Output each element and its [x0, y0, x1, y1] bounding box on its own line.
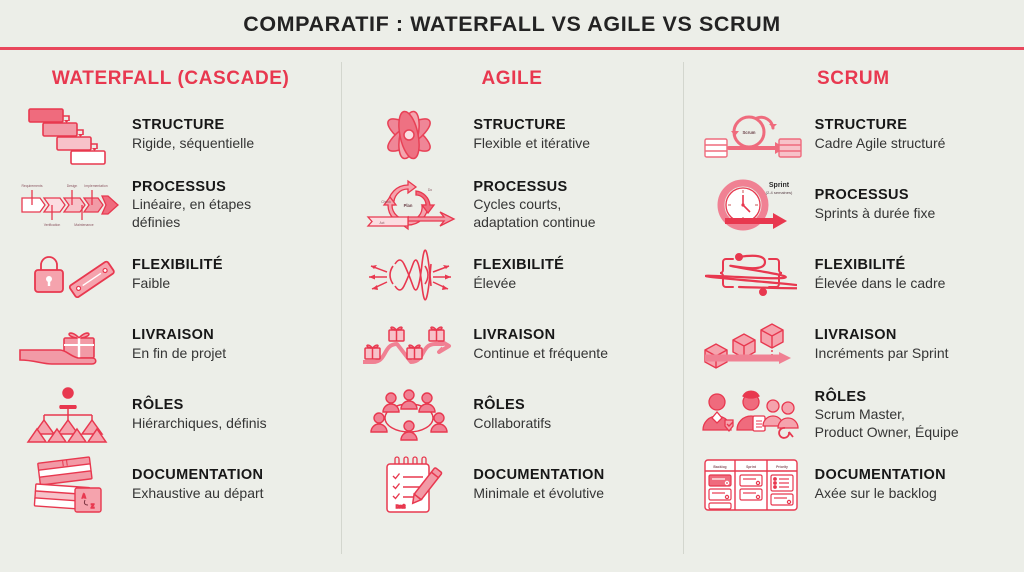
cascade-steps-icon — [14, 103, 122, 167]
comparison-columns: WATERFALL (CASCADE) — [0, 48, 1024, 572]
row-roles: RÔLES Collaboratifs — [355, 380, 668, 450]
icon-label-scrum: Scrum — [742, 130, 755, 135]
column-waterfall: WATERFALL (CASCADE) — [0, 56, 341, 572]
text-flexibilite: FLEXIBILITÉ Élevée — [473, 257, 668, 292]
text-documentation: DOCUMENTATION Axée sur le backlog — [815, 467, 1010, 502]
icon-label-requirements: Requirements — [21, 184, 42, 188]
text-livraison: LIVRAISON En fin de projet — [132, 327, 327, 362]
row-value: Incréments par Sprint — [815, 345, 1010, 363]
row-roles: RÔLES Scrum Master, Product Owner, Équip… — [697, 380, 1010, 450]
column-agile: AGILE — [341, 56, 682, 572]
icon-label-check: Check — [382, 200, 392, 204]
row-value: Élevée — [473, 275, 668, 293]
row-value: Continue et fréquente — [473, 345, 668, 363]
row-value: Sprints à durée fixe — [815, 205, 1010, 223]
row-flexibilite: FLEXIBILITÉ Élevée — [355, 240, 668, 310]
icon-label-plan: Plan — [404, 203, 413, 208]
rows-waterfall: STRUCTURE Rigide, séquentielle — [14, 100, 327, 520]
icon-label-maintenance: Maintenance — [74, 223, 94, 227]
row-livraison: LIVRAISON Continue et fréquente — [355, 310, 668, 380]
book-stack-icon: A Z — [14, 453, 122, 517]
row-documentation: Backlog Sprint Priority DOCUMENTATION Ax… — [697, 450, 1010, 520]
row-label: STRUCTURE — [132, 117, 327, 134]
row-value: Cycles courts, adaptation continue — [473, 196, 668, 231]
row-value: Scrum Master, Product Owner, Équipe — [815, 406, 1010, 441]
sprint-clock-icon: Sprint (2-4 semaines) — [697, 173, 805, 237]
text-flexibilite: FLEXIBILITÉ Élevée dans le cadre — [815, 257, 1010, 292]
text-structure: STRUCTURE Rigide, séquentielle — [132, 117, 327, 152]
kanban-board-icon: Backlog Sprint Priority — [697, 453, 805, 517]
row-value: Rigide, séquentielle — [132, 135, 327, 153]
row-label: PROCESSUS — [132, 179, 327, 196]
row-flexibilite: FLEXIBILITÉ Faible — [14, 240, 327, 310]
column-title-waterfall: WATERFALL (CASCADE) — [14, 68, 327, 90]
text-roles: RÔLES Collaboratifs — [473, 397, 668, 432]
column-scrum: SCRUM — [683, 56, 1024, 572]
page-title: COMPARATIF : WATERFALL VS AGILE VS SCRUM — [243, 12, 781, 37]
notepad-pencil-icon: Draft — [355, 453, 463, 517]
icon-label-backlog: Backlog — [713, 465, 726, 469]
row-processus: Plan Do Check Act PROCESSUS Cycles court… — [355, 170, 668, 240]
row-processus: Sprint (2-4 semaines) PROCESSUS Sprints … — [697, 170, 1010, 240]
row-label: FLEXIBILITÉ — [132, 257, 327, 274]
row-label: DOCUMENTATION — [132, 467, 327, 484]
row-structure: STRUCTURE Flexible et itérative — [355, 100, 668, 170]
row-label: FLEXIBILITÉ — [815, 257, 1010, 274]
row-roles: RÔLES Hiérarchiques, définis — [14, 380, 327, 450]
row-label: STRUCTURE — [473, 117, 668, 134]
row-value: Minimale et évolutive — [473, 485, 668, 503]
linear-arrow-phases-icon: Requirements Design Implementation Verif… — [14, 173, 122, 237]
row-label: LIVRAISON — [815, 327, 1010, 344]
row-label: PROCESSUS — [473, 179, 668, 196]
infographic-poster: COMPARATIF : WATERFALL VS AGILE VS SCRUM… — [0, 0, 1024, 572]
header-divider-rule — [0, 47, 1024, 50]
row-value: Faible — [132, 275, 327, 293]
lock-ruler-icon — [14, 243, 122, 307]
rows-scrum: Scrum STRUCTURE Cadre Agile structuré — [697, 100, 1010, 520]
row-label: RÔLES — [132, 397, 327, 414]
poster-header: COMPARATIF : WATERFALL VS AGILE VS SCRUM — [0, 0, 1024, 48]
text-processus: PROCESSUS Linéaire, en étapes définies — [132, 179, 327, 232]
spring-brackets-icon — [697, 243, 805, 307]
text-roles: RÔLES Scrum Master, Product Owner, Équip… — [815, 389, 1010, 442]
icon-label-sprint-duration: (2-4 semaines) — [765, 190, 792, 195]
icon-label-verification: Verification — [44, 223, 61, 227]
row-value: Cadre Agile structuré — [815, 135, 1010, 153]
row-value: Axée sur le backlog — [815, 485, 1010, 503]
text-roles: RÔLES Hiérarchiques, définis — [132, 397, 327, 432]
row-label: RÔLES — [473, 397, 668, 414]
spring-arrows-icon — [355, 243, 463, 307]
column-title-agile: AGILE — [355, 68, 668, 90]
gift-wave-arrow-icon — [355, 313, 463, 377]
row-documentation: A Z DOCUMENTATION Exhaustive au départ — [14, 450, 327, 520]
text-flexibilite: FLEXIBILITÉ Faible — [132, 257, 327, 292]
icon-label-act: Act — [380, 221, 385, 225]
row-label: LIVRAISON — [132, 327, 327, 344]
row-value: Flexible et itérative — [473, 135, 668, 153]
row-label: LIVRAISON — [473, 327, 668, 344]
text-livraison: LIVRAISON Incréments par Sprint — [815, 327, 1010, 362]
hierarchy-pyramid-icon — [14, 383, 122, 447]
interlocking-loops-icon — [355, 103, 463, 167]
text-documentation: DOCUMENTATION Minimale et évolutive — [473, 467, 668, 502]
row-label: FLEXIBILITÉ — [473, 257, 668, 274]
icon-label-implementation: Implementation — [84, 184, 107, 188]
row-label: RÔLES — [815, 389, 1010, 406]
icon-label-sprint: Sprint — [769, 182, 790, 189]
row-structure: STRUCTURE Rigide, séquentielle — [14, 100, 327, 170]
row-structure: Scrum STRUCTURE Cadre Agile structuré — [697, 100, 1010, 170]
row-value: Exhaustive au départ — [132, 485, 327, 503]
row-documentation: Draft DOCUMENTATION Minimale et évolutiv… — [355, 450, 668, 520]
icon-label-draft: Draft — [396, 504, 406, 509]
text-documentation: DOCUMENTATION Exhaustive au départ — [132, 467, 327, 502]
row-label: DOCUMENTATION — [473, 467, 668, 484]
text-livraison: LIVRAISON Continue et fréquente — [473, 327, 668, 362]
icon-label-design: Design — [67, 184, 78, 188]
hand-gift-icon — [14, 313, 122, 377]
text-structure: STRUCTURE Cadre Agile structuré — [815, 117, 1010, 152]
text-processus: PROCESSUS Sprints à durée fixe — [815, 187, 1010, 222]
row-label: PROCESSUS — [815, 187, 1010, 204]
icon-label-do: Do — [428, 188, 432, 192]
row-value: Hiérarchiques, définis — [132, 415, 327, 433]
icon-letter-a: A — [82, 494, 86, 500]
rows-agile: STRUCTURE Flexible et itérative — [355, 100, 668, 520]
row-flexibilite: FLEXIBILITÉ Élevée dans le cadre — [697, 240, 1010, 310]
team-round-table-icon — [355, 383, 463, 447]
row-value: Collaboratifs — [473, 415, 668, 433]
increment-boxes-icon — [697, 313, 805, 377]
icon-label-sprint-col: Sprint — [746, 465, 757, 469]
scrum-loop-icon: Scrum — [697, 103, 805, 167]
row-label: STRUCTURE — [815, 117, 1010, 134]
scrum-roles-people-icon — [697, 383, 805, 447]
column-title-scrum: SCRUM — [697, 68, 1010, 90]
row-livraison: LIVRAISON En fin de projet — [14, 310, 327, 380]
row-value: Linéaire, en étapes définies — [132, 196, 327, 231]
text-structure: STRUCTURE Flexible et itérative — [473, 117, 668, 152]
row-value: En fin de projet — [132, 345, 327, 363]
row-value: Élevée dans le cadre — [815, 275, 1010, 293]
row-label: DOCUMENTATION — [815, 467, 1010, 484]
text-processus: PROCESSUS Cycles courts, adaptation cont… — [473, 179, 668, 232]
row-livraison: LIVRAISON Incréments par Sprint — [697, 310, 1010, 380]
pdca-cycle-icon: Plan Do Check Act — [355, 173, 463, 237]
row-processus: Requirements Design Implementation Verif… — [14, 170, 327, 240]
icon-label-priority: Priority — [776, 465, 788, 469]
